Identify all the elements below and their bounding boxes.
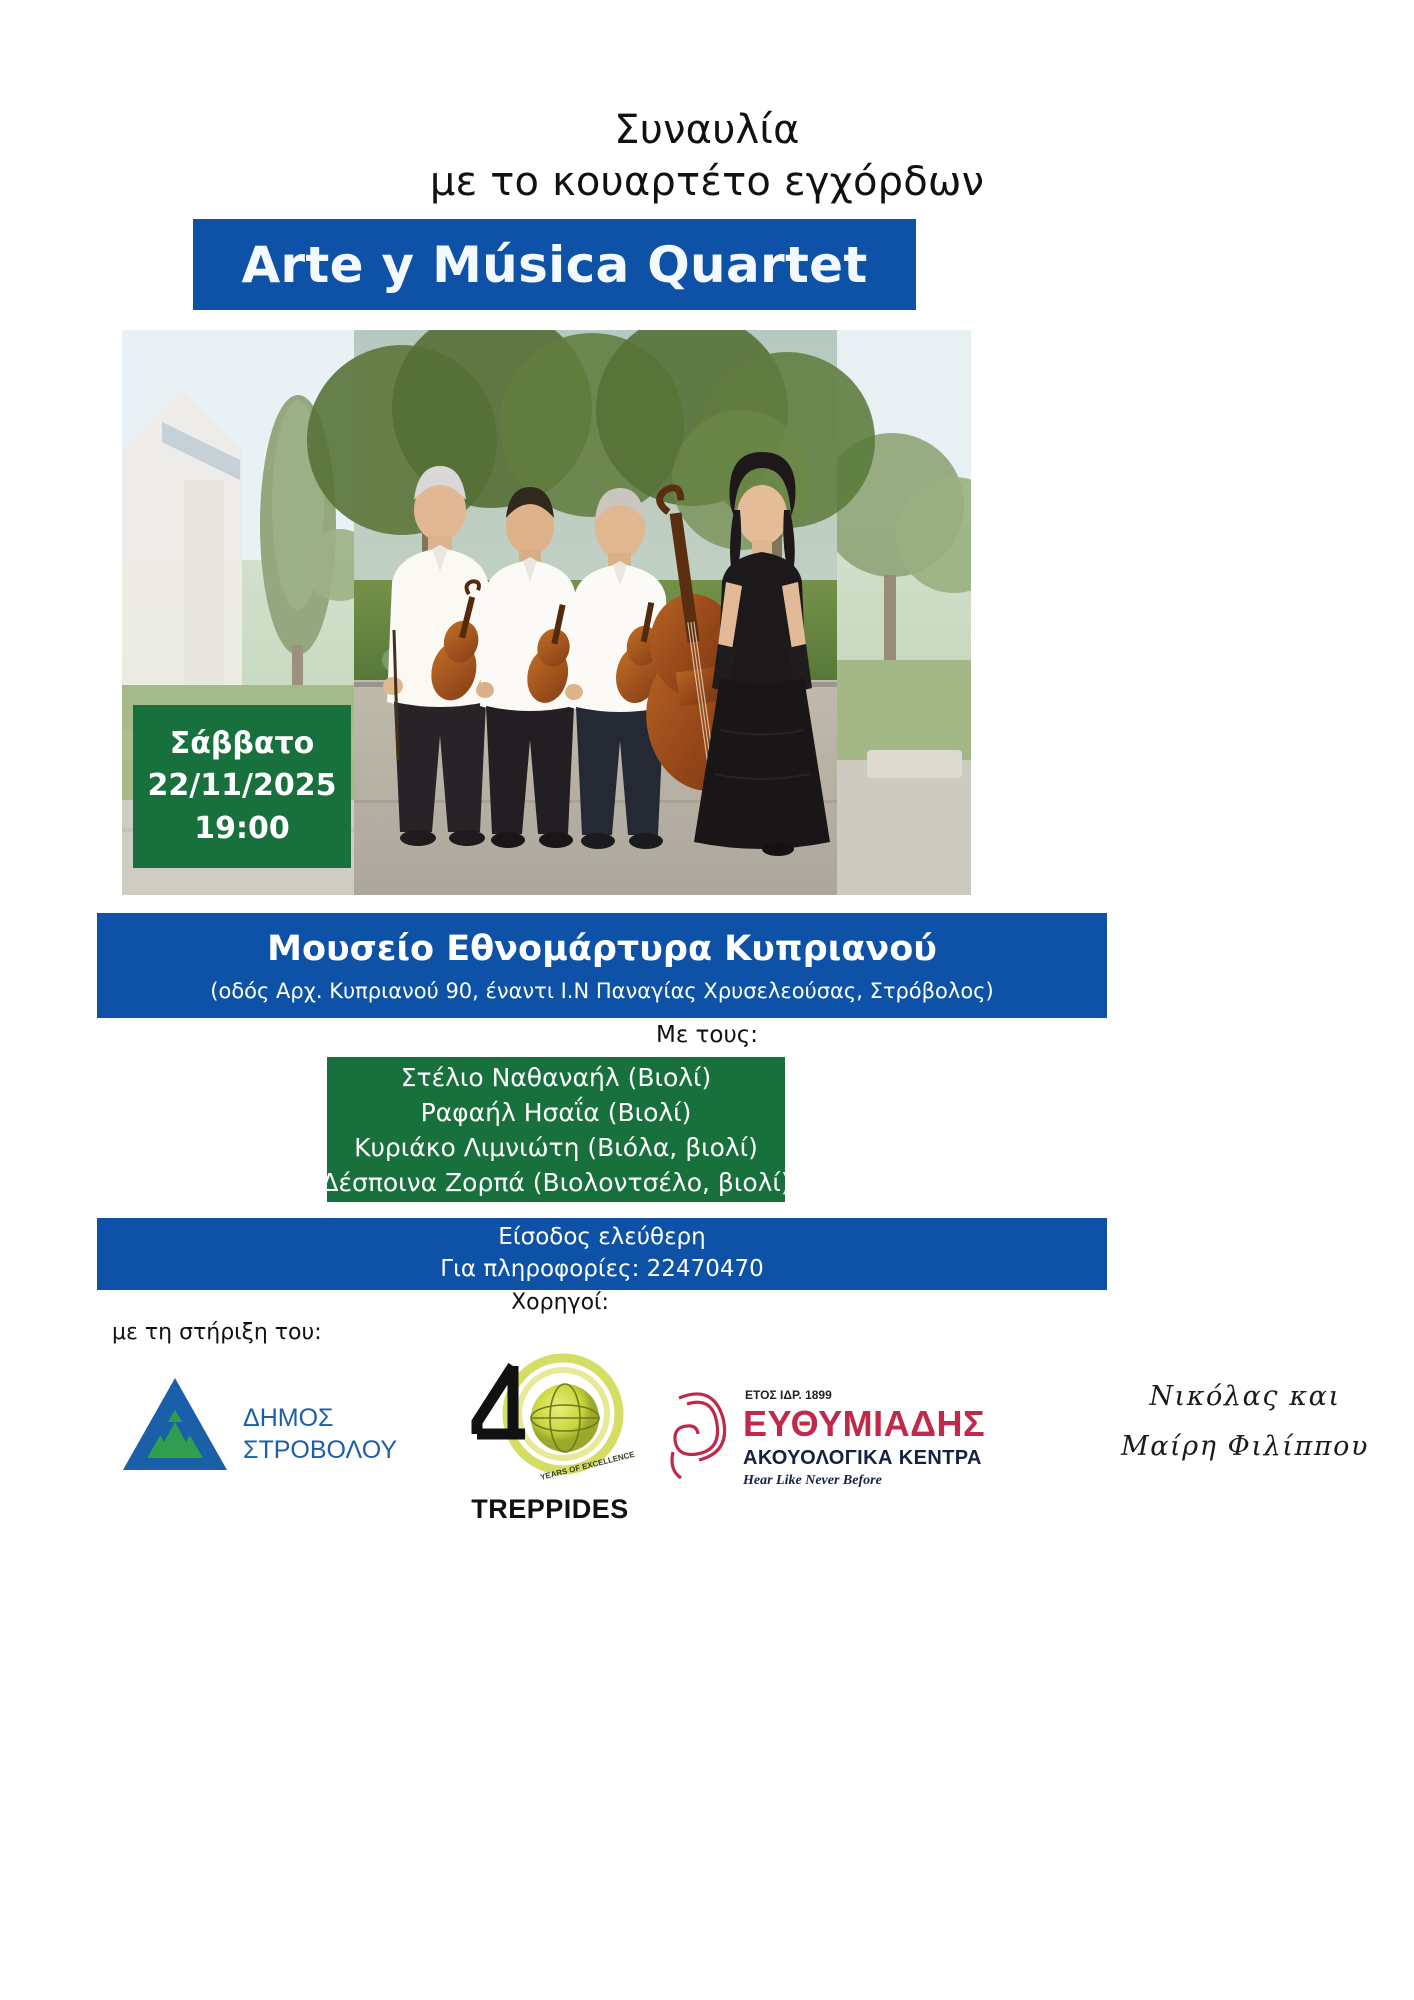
admission-band: Είσοδος ελεύθερη Για πληροφορίες: 224704… bbox=[97, 1218, 1107, 1290]
efthymiades-subtitle-text: ΑΚΟΥΟΛΟΓΙΚΑ ΚΕΝΤΡΑ bbox=[743, 1447, 982, 1469]
efthymiades-logo: ΕΤΟΣ ΙΔΡ. 1899 ΕΥΘΥΜΙΑΔΗΣ ΑΚΟΥΟΛΟΓΙΚΑ ΚΕ… bbox=[645, 1374, 1075, 1489]
poster-heading: Συναυλία με το κουαρτέτο εγχόρδων bbox=[0, 104, 1414, 208]
efthymiades-slogan-text: Hear Like Never Before bbox=[742, 1473, 882, 1488]
performer-item: Κυριάκο Λιμνιώτη (Βιόλα, βιολί) bbox=[354, 1130, 758, 1165]
strovolos-municipality-logo: ΔΗΜΟΣ ΣΤΡΟΒΟΛΟΥ bbox=[115, 1370, 405, 1480]
treppides-logo: YEARS OF EXCELLENCE TREPPIDES bbox=[455, 1352, 645, 1527]
private-donors: Νικόλας και Μαίρη Φιλίππου bbox=[1095, 1372, 1395, 1492]
concert-poster: Συναυλία με το κουαρτέτο εγχόρδων Arte y… bbox=[0, 0, 1414, 2000]
logo-row: ΔΗΜΟΣ ΣΤΡΟΒΟΛΟΥ bbox=[95, 1352, 1325, 1532]
event-day: Σάββατο bbox=[170, 723, 314, 766]
sponsors-label: Χορηγοί: bbox=[0, 1290, 1120, 1315]
municipality-line-2-text: ΣΤΡΟΒΟΛΟΥ bbox=[243, 1436, 397, 1464]
free-entry-text: Είσοδος ελεύθερη bbox=[498, 1222, 705, 1254]
ensemble-title: Arte y Música Quartet bbox=[241, 236, 867, 294]
heading-line-2: με το κουαρτέτο εγχόρδων bbox=[0, 156, 1414, 208]
efthymiades-name-text: ΕΥΘΥΜΙΑΔΗΣ bbox=[743, 1403, 985, 1444]
venue-band: Μουσείο Εθνομάρτυρα Κυπριανού (οδός Αρχ.… bbox=[97, 913, 1107, 1018]
ensemble-title-band: Arte y Música Quartet bbox=[193, 219, 916, 310]
venue-name: Μουσείο Εθνομάρτυρα Κυπριανού bbox=[267, 928, 937, 970]
event-date-box: Σάββατο 22/11/2025 19:00 bbox=[133, 705, 351, 868]
performers-box: Στέλιο Ναθαναήλ (Βιολί) Ραφαήλ Ησαΐα (Βι… bbox=[327, 1057, 785, 1202]
performers-label: Με τους: bbox=[0, 1022, 1414, 1048]
performer-item: Στέλιο Ναθαναήλ (Βιολί) bbox=[401, 1060, 712, 1095]
support-label: με τη στήριξη του: bbox=[112, 1320, 322, 1345]
donor-line-1: Νικόλας και bbox=[1095, 1372, 1395, 1422]
treppides-name-text: TREPPIDES bbox=[471, 1494, 629, 1524]
venue-address: (οδός Αρχ. Κυπριανού 90, έναντι Ι.Ν Πανα… bbox=[210, 979, 993, 1003]
heading-line-1: Συναυλία bbox=[614, 107, 799, 153]
performer-item: Ραφαήλ Ησαΐα (Βιολί) bbox=[421, 1095, 692, 1130]
municipality-line-1-text: ΔΗΜΟΣ bbox=[243, 1404, 333, 1432]
event-date: 22/11/2025 bbox=[148, 765, 337, 808]
efthymiades-established-text: ΕΤΟΣ ΙΔΡ. 1899 bbox=[745, 1388, 832, 1402]
event-time: 19:00 bbox=[194, 808, 290, 851]
donor-line-2: Μαίρη Φιλίππου bbox=[1095, 1422, 1395, 1472]
info-phone-text: Για πληροφορίες: 22470470 bbox=[440, 1254, 763, 1286]
performer-item: Δέσποινα Ζορπά (Βιολοντσέλο, βιολί) bbox=[321, 1165, 790, 1200]
